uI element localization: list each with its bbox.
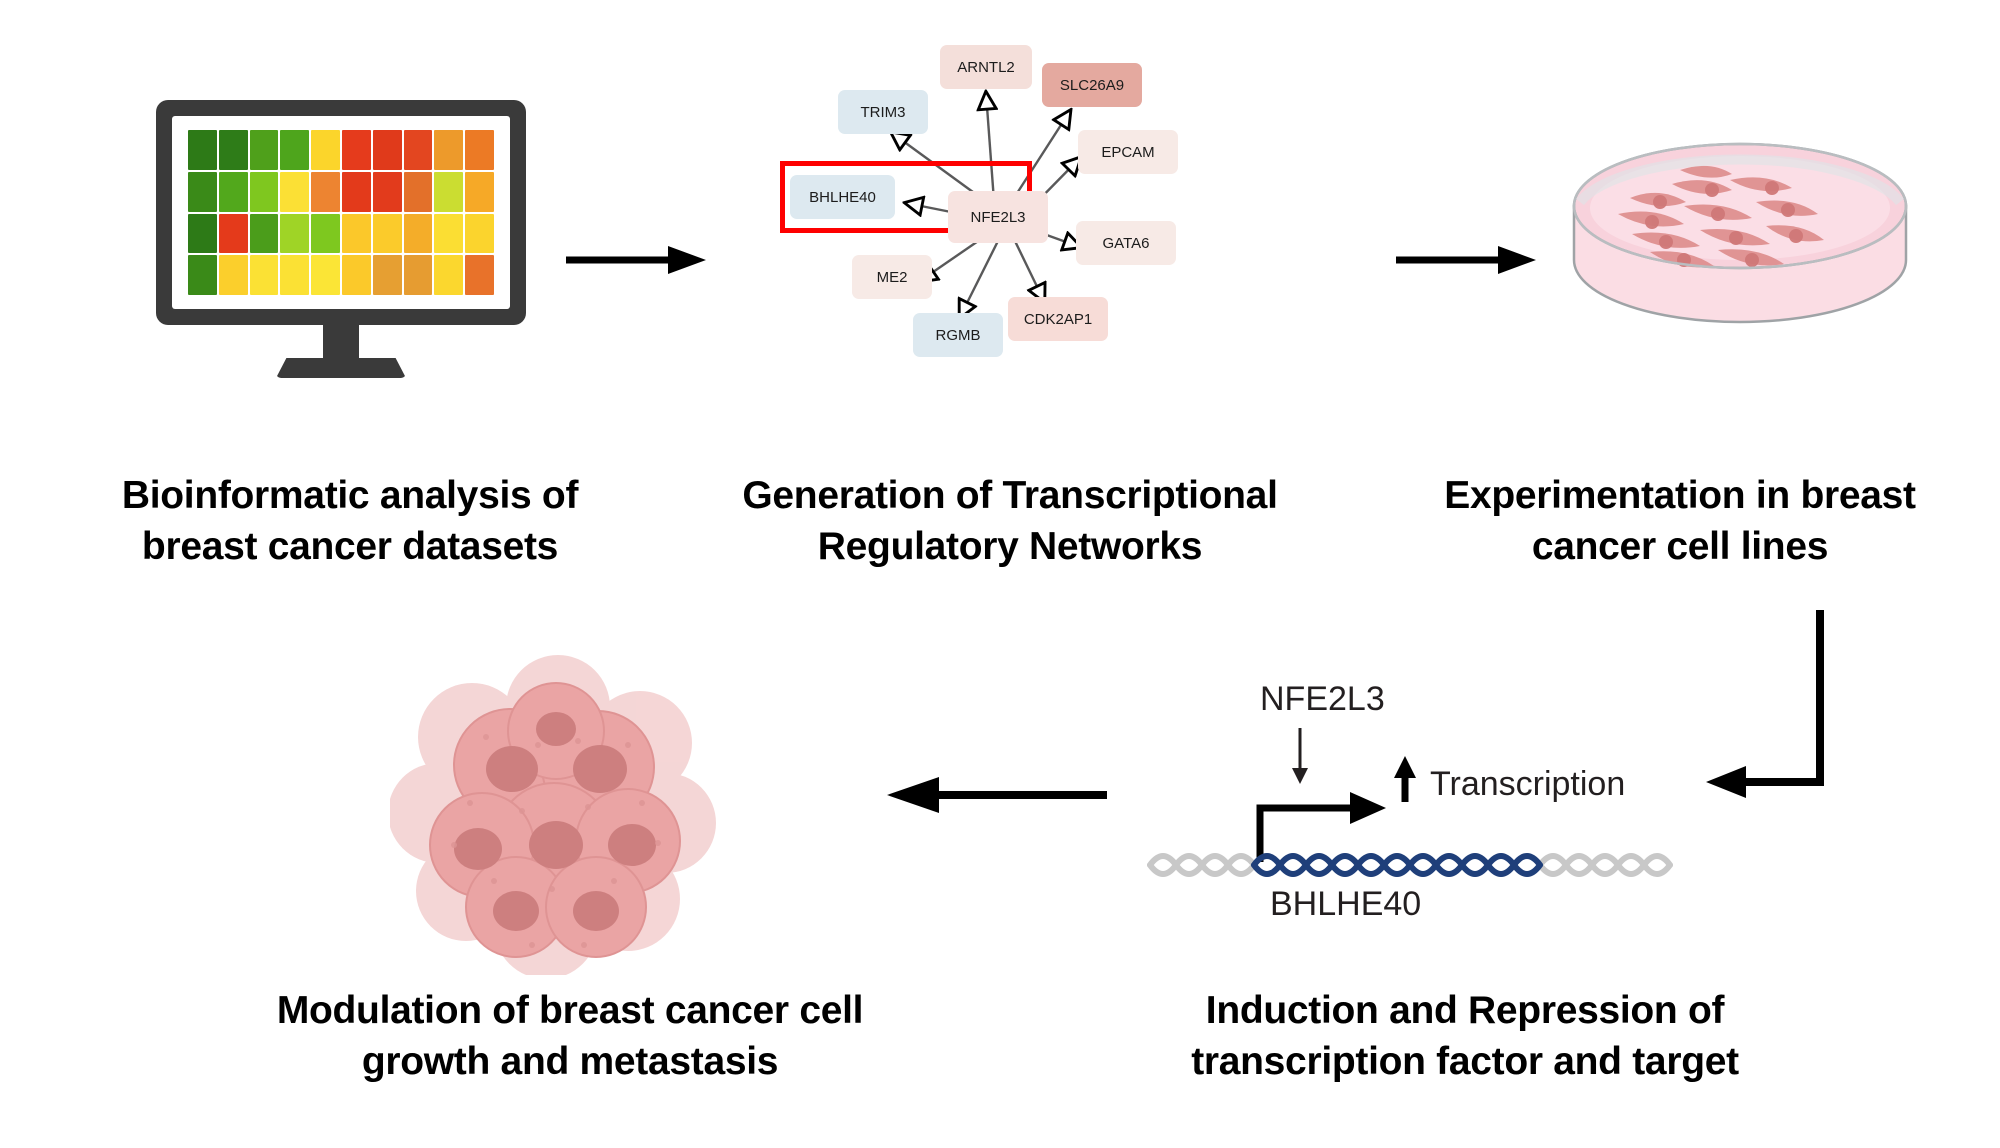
caption-modulation: Modulation of breast cancer cell growth …	[175, 985, 965, 1088]
heatmap-cell-r3-c8	[434, 255, 463, 295]
dna-transcription-icon: NFE2L3 Transcription BHLHE40	[1140, 680, 1700, 950]
caption-induction-repression: Induction and Repression of transcriptio…	[1120, 985, 1810, 1088]
heatmap-cell-r3-c3	[280, 255, 309, 295]
caption-experimentation: Experimentation in breast cancer cell li…	[1375, 470, 1985, 573]
heatmap-cell-r1-c8	[434, 172, 463, 212]
heatmap-cell-r0-c3	[280, 130, 309, 170]
heatmap-cell-r3-c2	[250, 255, 279, 295]
monitor-stand-base	[276, 358, 406, 378]
edge-nfe2l3-rgmb	[960, 241, 998, 317]
heatmap-cell-r2-c0	[188, 214, 217, 254]
heatmap-cell-r2-c6	[373, 214, 402, 254]
edge-nfe2l3-cdk2ap1	[1014, 239, 1044, 301]
arrow-network-to-dish	[1390, 230, 1540, 290]
arrow-dna-to-cells	[855, 760, 1115, 830]
network-node-me2[interactable]: ME2	[852, 255, 932, 299]
network-node-rgmb[interactable]: RGMB	[913, 313, 1003, 357]
heatmap-cell-r2-c4	[311, 214, 340, 254]
computer-monitor-heatmap-icon	[138, 90, 558, 370]
caption-bioinformatic-analysis: Bioinformatic analysis of breast cancer …	[20, 470, 680, 573]
heatmap-cell-r0-c1	[219, 130, 248, 170]
heatmap-cell-r2-c8	[434, 214, 463, 254]
transcription-start-arrow	[1260, 792, 1386, 862]
network-node-bhlhe40[interactable]: BHLHE40	[790, 175, 895, 219]
heatmap-cell-r3-c6	[373, 255, 402, 295]
heatmap-cell-r1-c4	[311, 172, 340, 212]
heatmap-cell-r0-c6	[373, 130, 402, 170]
heatmap-cell-r1-c6	[373, 172, 402, 212]
monitor-screen	[172, 116, 510, 309]
heatmap-cell-r0-c0	[188, 130, 217, 170]
heatmap-cell-r1-c0	[188, 172, 217, 212]
heatmap-cell-r3-c4	[311, 255, 340, 295]
figure-canvas: Bioinformatic analysis of breast cancer …	[0, 0, 2000, 1148]
network-node-arntl2[interactable]: ARNTL2	[940, 45, 1032, 89]
heatmap-cell-r1-c7	[404, 172, 433, 212]
heatmap-cell-r1-c5	[342, 172, 371, 212]
heatmap-cell-r1-c1	[219, 172, 248, 212]
heatmap-cell-r2-c2	[250, 214, 279, 254]
network-node-slc26a9[interactable]: SLC26A9	[1042, 63, 1142, 107]
heatmap-grid	[188, 130, 494, 295]
network-node-epcam[interactable]: EPCAM	[1078, 130, 1178, 174]
up-arrow-icon	[1394, 756, 1416, 802]
heatmap-cell-r0-c9	[465, 130, 494, 170]
network-node-cdk2ap1[interactable]: CDK2AP1	[1008, 297, 1108, 341]
heatmap-cell-r3-c5	[342, 255, 371, 295]
heatmap-cell-r1-c2	[250, 172, 279, 212]
arrow-dish-to-dna	[1690, 600, 1850, 830]
network-node-nfe2l3[interactable]: NFE2L3	[948, 191, 1048, 243]
heatmap-cell-r3-c9	[465, 255, 494, 295]
heatmap-cell-r2-c9	[465, 214, 494, 254]
network-node-trim3[interactable]: TRIM3	[838, 90, 928, 134]
heatmap-cell-r1-c3	[280, 172, 309, 212]
heatmap-cell-r3-c0	[188, 255, 217, 295]
heatmap-cell-r2-c1	[219, 214, 248, 254]
tf-binding-arrow	[1292, 728, 1308, 784]
heatmap-cell-r0-c8	[434, 130, 463, 170]
heatmap-cell-r2-c3	[280, 214, 309, 254]
arrow-monitor-to-network	[560, 230, 710, 290]
heatmap-cell-r0-c7	[404, 130, 433, 170]
caption-network-generation: Generation of Transcriptional Regulatory…	[700, 470, 1320, 573]
heatmap-cell-r0-c4	[311, 130, 340, 170]
monitor-stand-neck	[323, 325, 359, 363]
heatmap-cell-r3-c1	[219, 255, 248, 295]
heatmap-cell-r0-c2	[250, 130, 279, 170]
heatmap-cell-r3-c7	[404, 255, 433, 295]
petri-dish-icon	[1560, 110, 1920, 350]
heatmap-cell-r2-c5	[342, 214, 371, 254]
heatmap-cell-r0-c5	[342, 130, 371, 170]
gene-network-icon: ARNTL2 SLC26A9 TRIM3 EPCAM BHLHE40 GATA6…	[780, 25, 1220, 355]
monitor-bezel	[156, 100, 526, 325]
tumour-cell-cluster-icon	[390, 645, 720, 975]
heatmap-cell-r1-c9	[465, 172, 494, 212]
network-node-gata6[interactable]: GATA6	[1076, 221, 1176, 265]
heatmap-cell-r2-c7	[404, 214, 433, 254]
